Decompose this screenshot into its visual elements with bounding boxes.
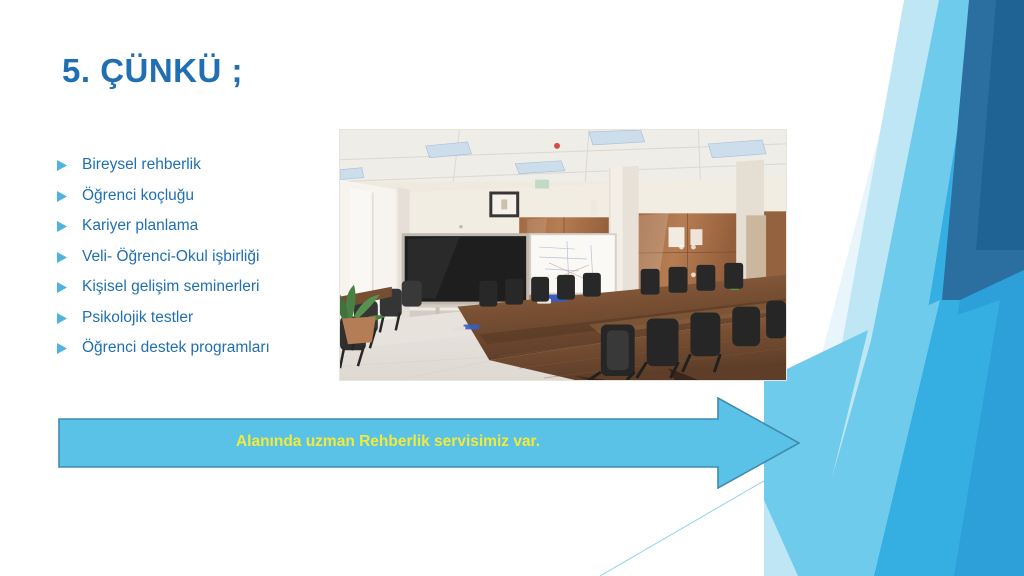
meeting-room-photo [339, 129, 787, 381]
triangle-right-icon [55, 281, 68, 294]
list-item-label: Kişisel gelişim seminerleri [82, 277, 259, 297]
arrow-banner[interactable]: Alanında uzman Rehberlik servisimiz var. [58, 397, 800, 489]
list-item-label: Bireysel rehberlik [82, 155, 201, 175]
list-item[interactable]: Kişisel gelişim seminerleri [55, 277, 335, 299]
list-item[interactable]: Kariyer planlama [55, 216, 335, 238]
triangle-right-icon [55, 342, 68, 355]
list-item[interactable]: Öğrenci destek programları [55, 338, 335, 360]
triangle-right-icon [55, 312, 68, 325]
list-item[interactable]: Öğrenci koçluğu [55, 186, 335, 208]
list-item-label: Psikolojik testler [82, 308, 193, 328]
decorative-bands [764, 0, 1024, 576]
slide-canvas: 5. ÇÜNKÜ ; Bireysel rehberlik Öğrenci ko… [0, 0, 1024, 576]
triangle-right-icon [55, 159, 68, 172]
list-item-label: Öğrenci destek programları [82, 338, 270, 358]
list-item[interactable]: Psikolojik testler [55, 308, 335, 330]
triangle-right-icon [55, 220, 68, 233]
list-item[interactable]: Veli- Öğrenci-Okul işbirliği [55, 247, 335, 269]
list-item-label: Veli- Öğrenci-Okul işbirliği [82, 247, 259, 267]
triangle-right-icon [55, 190, 68, 203]
list-item[interactable]: Bireysel rehberlik [55, 155, 335, 177]
page-title: 5. ÇÜNKÜ ; [62, 52, 243, 90]
list-item-label: Öğrenci koçluğu [82, 186, 194, 206]
bullet-list: Bireysel rehberlik Öğrenci koçluğu Kariy… [55, 155, 335, 369]
triangle-right-icon [55, 251, 68, 264]
list-item-label: Kariyer planlama [82, 216, 198, 236]
